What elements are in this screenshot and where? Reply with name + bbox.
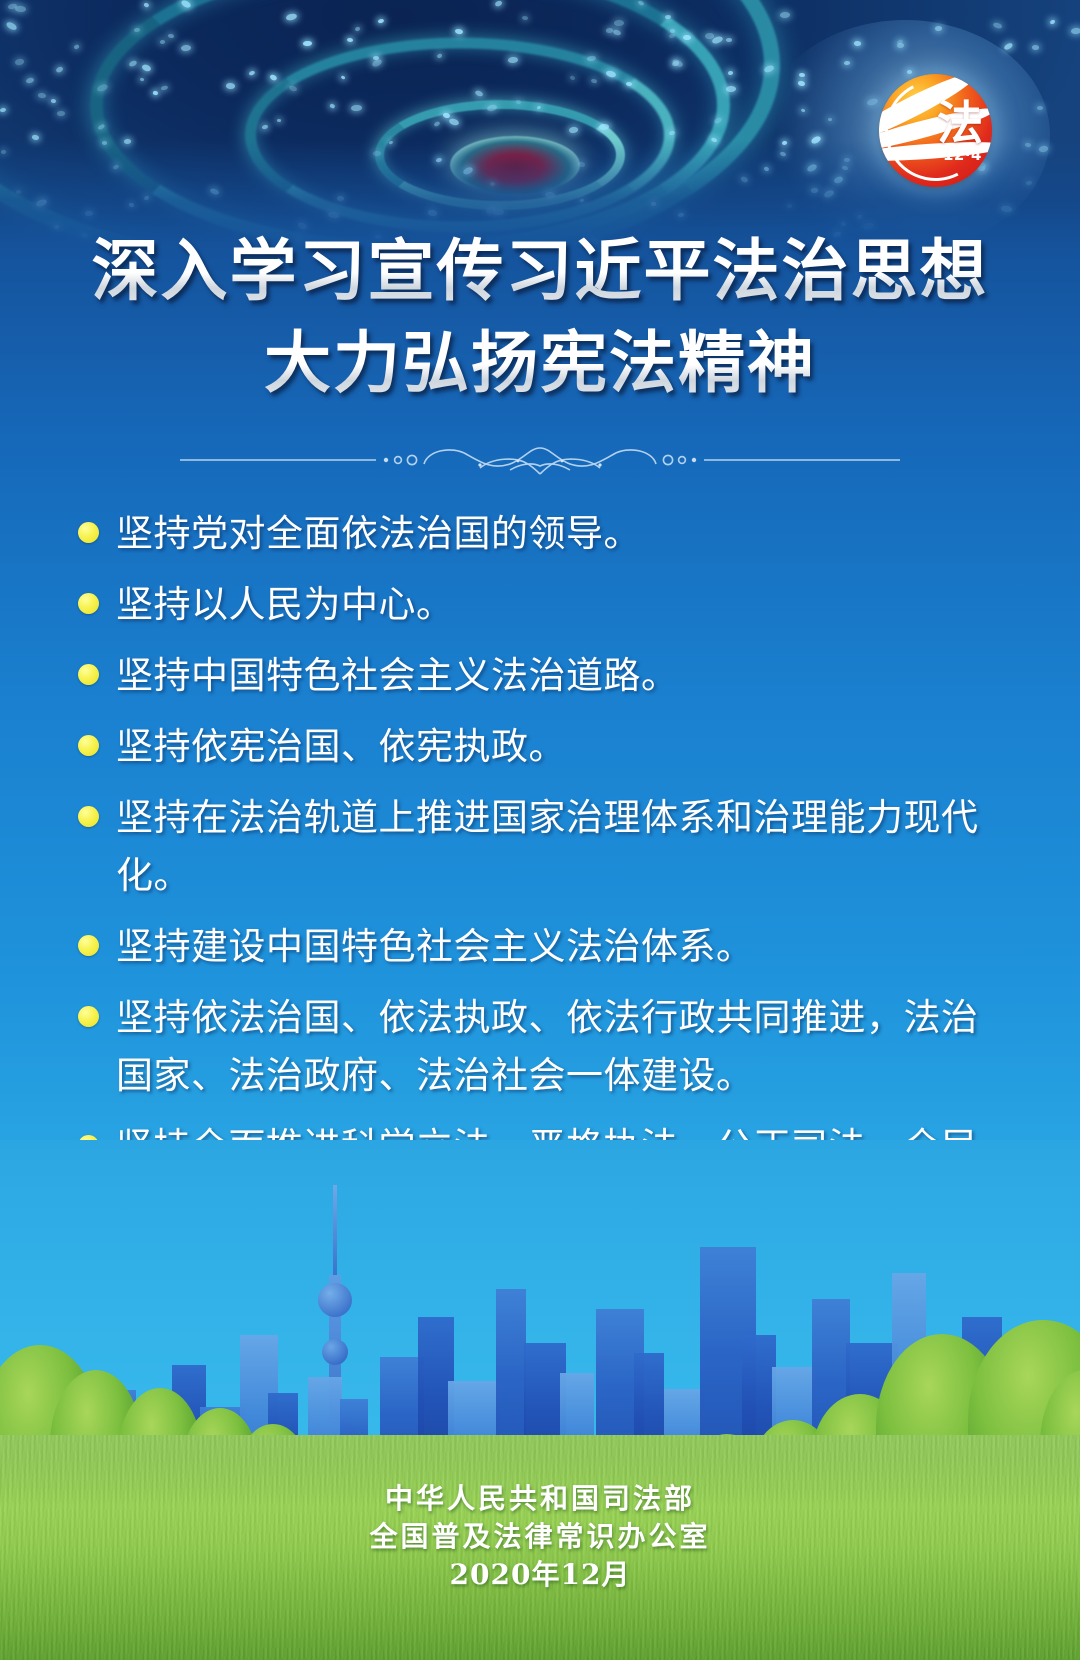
footer-org-1: 中华人民共和国司法部 bbox=[0, 1480, 1080, 1518]
poster-footer: 中华人民共和国司法部 全国普及法律常识办公室 2020年12月 bbox=[0, 1480, 1080, 1594]
principle-item: 坚持依宪治国、依宪执政。 bbox=[78, 718, 1018, 776]
ceiling-light bbox=[726, 86, 736, 92]
ceiling-light bbox=[152, 90, 157, 95]
principle-item: 坚持党对全面依法治国的领导。 bbox=[78, 505, 1018, 563]
principle-text: 坚持在法治轨道上推进国家治理体系和治理能力现代化。 bbox=[116, 789, 996, 905]
principle-text: 坚持依法治国、依法执政、依法行政共同推进，法治国家、法治政府、法治社会一体建设。 bbox=[116, 989, 996, 1105]
ceiling-light bbox=[854, 41, 861, 46]
bullet-dot-icon bbox=[78, 935, 99, 956]
principle-item: 坚持中国特色社会主义法治道路。 bbox=[78, 647, 1018, 705]
pearl-sphere-top bbox=[318, 1283, 352, 1317]
ornamental-divider bbox=[0, 434, 1080, 476]
bullet-dot-icon bbox=[78, 806, 99, 827]
principle-text: 坚持依宪治国、依宪执政。 bbox=[116, 718, 566, 776]
logo-fa-character: 法 bbox=[937, 100, 983, 146]
logo-date-label: 12·4 bbox=[943, 146, 982, 164]
principle-item: 坚持依法治国、依法执政、依法行政共同推进，法治国家、法治政府、法治社会一体建设。 bbox=[78, 989, 1018, 1105]
principle-text: 坚持党对全面依法治国的领导。 bbox=[116, 505, 641, 563]
ceiling-light bbox=[670, 29, 676, 33]
ceiling-light bbox=[455, 28, 463, 34]
title-line-2: 大力弘扬宪法精神 bbox=[0, 320, 1080, 406]
ceiling-light bbox=[896, 43, 903, 48]
bullet-dot-icon bbox=[78, 522, 99, 543]
title-line-1: 深入学习宣传习近平法治思想 bbox=[0, 228, 1080, 314]
poster-root: 法 12·4 深入学习宣传习近平法治思想 大力弘扬宪法精神 bbox=[0, 0, 1080, 1660]
bullet-dot-icon bbox=[78, 1006, 99, 1027]
ceiling-light bbox=[726, 38, 732, 42]
principle-text: 坚持以人民为中心。 bbox=[116, 576, 454, 634]
principle-item: 坚持在法治轨道上推进国家治理体系和治理能力现代化。 bbox=[78, 789, 1018, 905]
bullet-dot-icon bbox=[78, 664, 99, 685]
ceiling-light bbox=[57, 111, 65, 116]
principle-text: 坚持建设中国特色社会主义法治体系。 bbox=[116, 918, 754, 976]
ceiling-light bbox=[683, 35, 691, 40]
ceiling-light bbox=[935, 25, 943, 30]
ceiling-light bbox=[225, 83, 235, 89]
pearl-spire bbox=[333, 1185, 337, 1275]
bullet-dot-icon bbox=[78, 593, 99, 614]
principle-item: 坚持以人民为中心。 bbox=[78, 576, 1018, 634]
poster-title: 深入学习宣传习近平法治思想 大力弘扬宪法精神 bbox=[0, 228, 1080, 406]
principle-text: 坚持中国特色社会主义法治道路。 bbox=[116, 647, 679, 705]
principle-item: 坚持建设中国特色社会主义法治体系。 bbox=[78, 918, 1018, 976]
footer-date: 2020年12月 bbox=[0, 1556, 1080, 1594]
bullet-dot-icon bbox=[78, 735, 99, 756]
national-constitution-day-logo: 法 12·4 bbox=[879, 74, 992, 187]
footer-org-2: 全国普及法律常识办公室 bbox=[0, 1518, 1080, 1556]
ceiling-light bbox=[1070, 27, 1080, 33]
